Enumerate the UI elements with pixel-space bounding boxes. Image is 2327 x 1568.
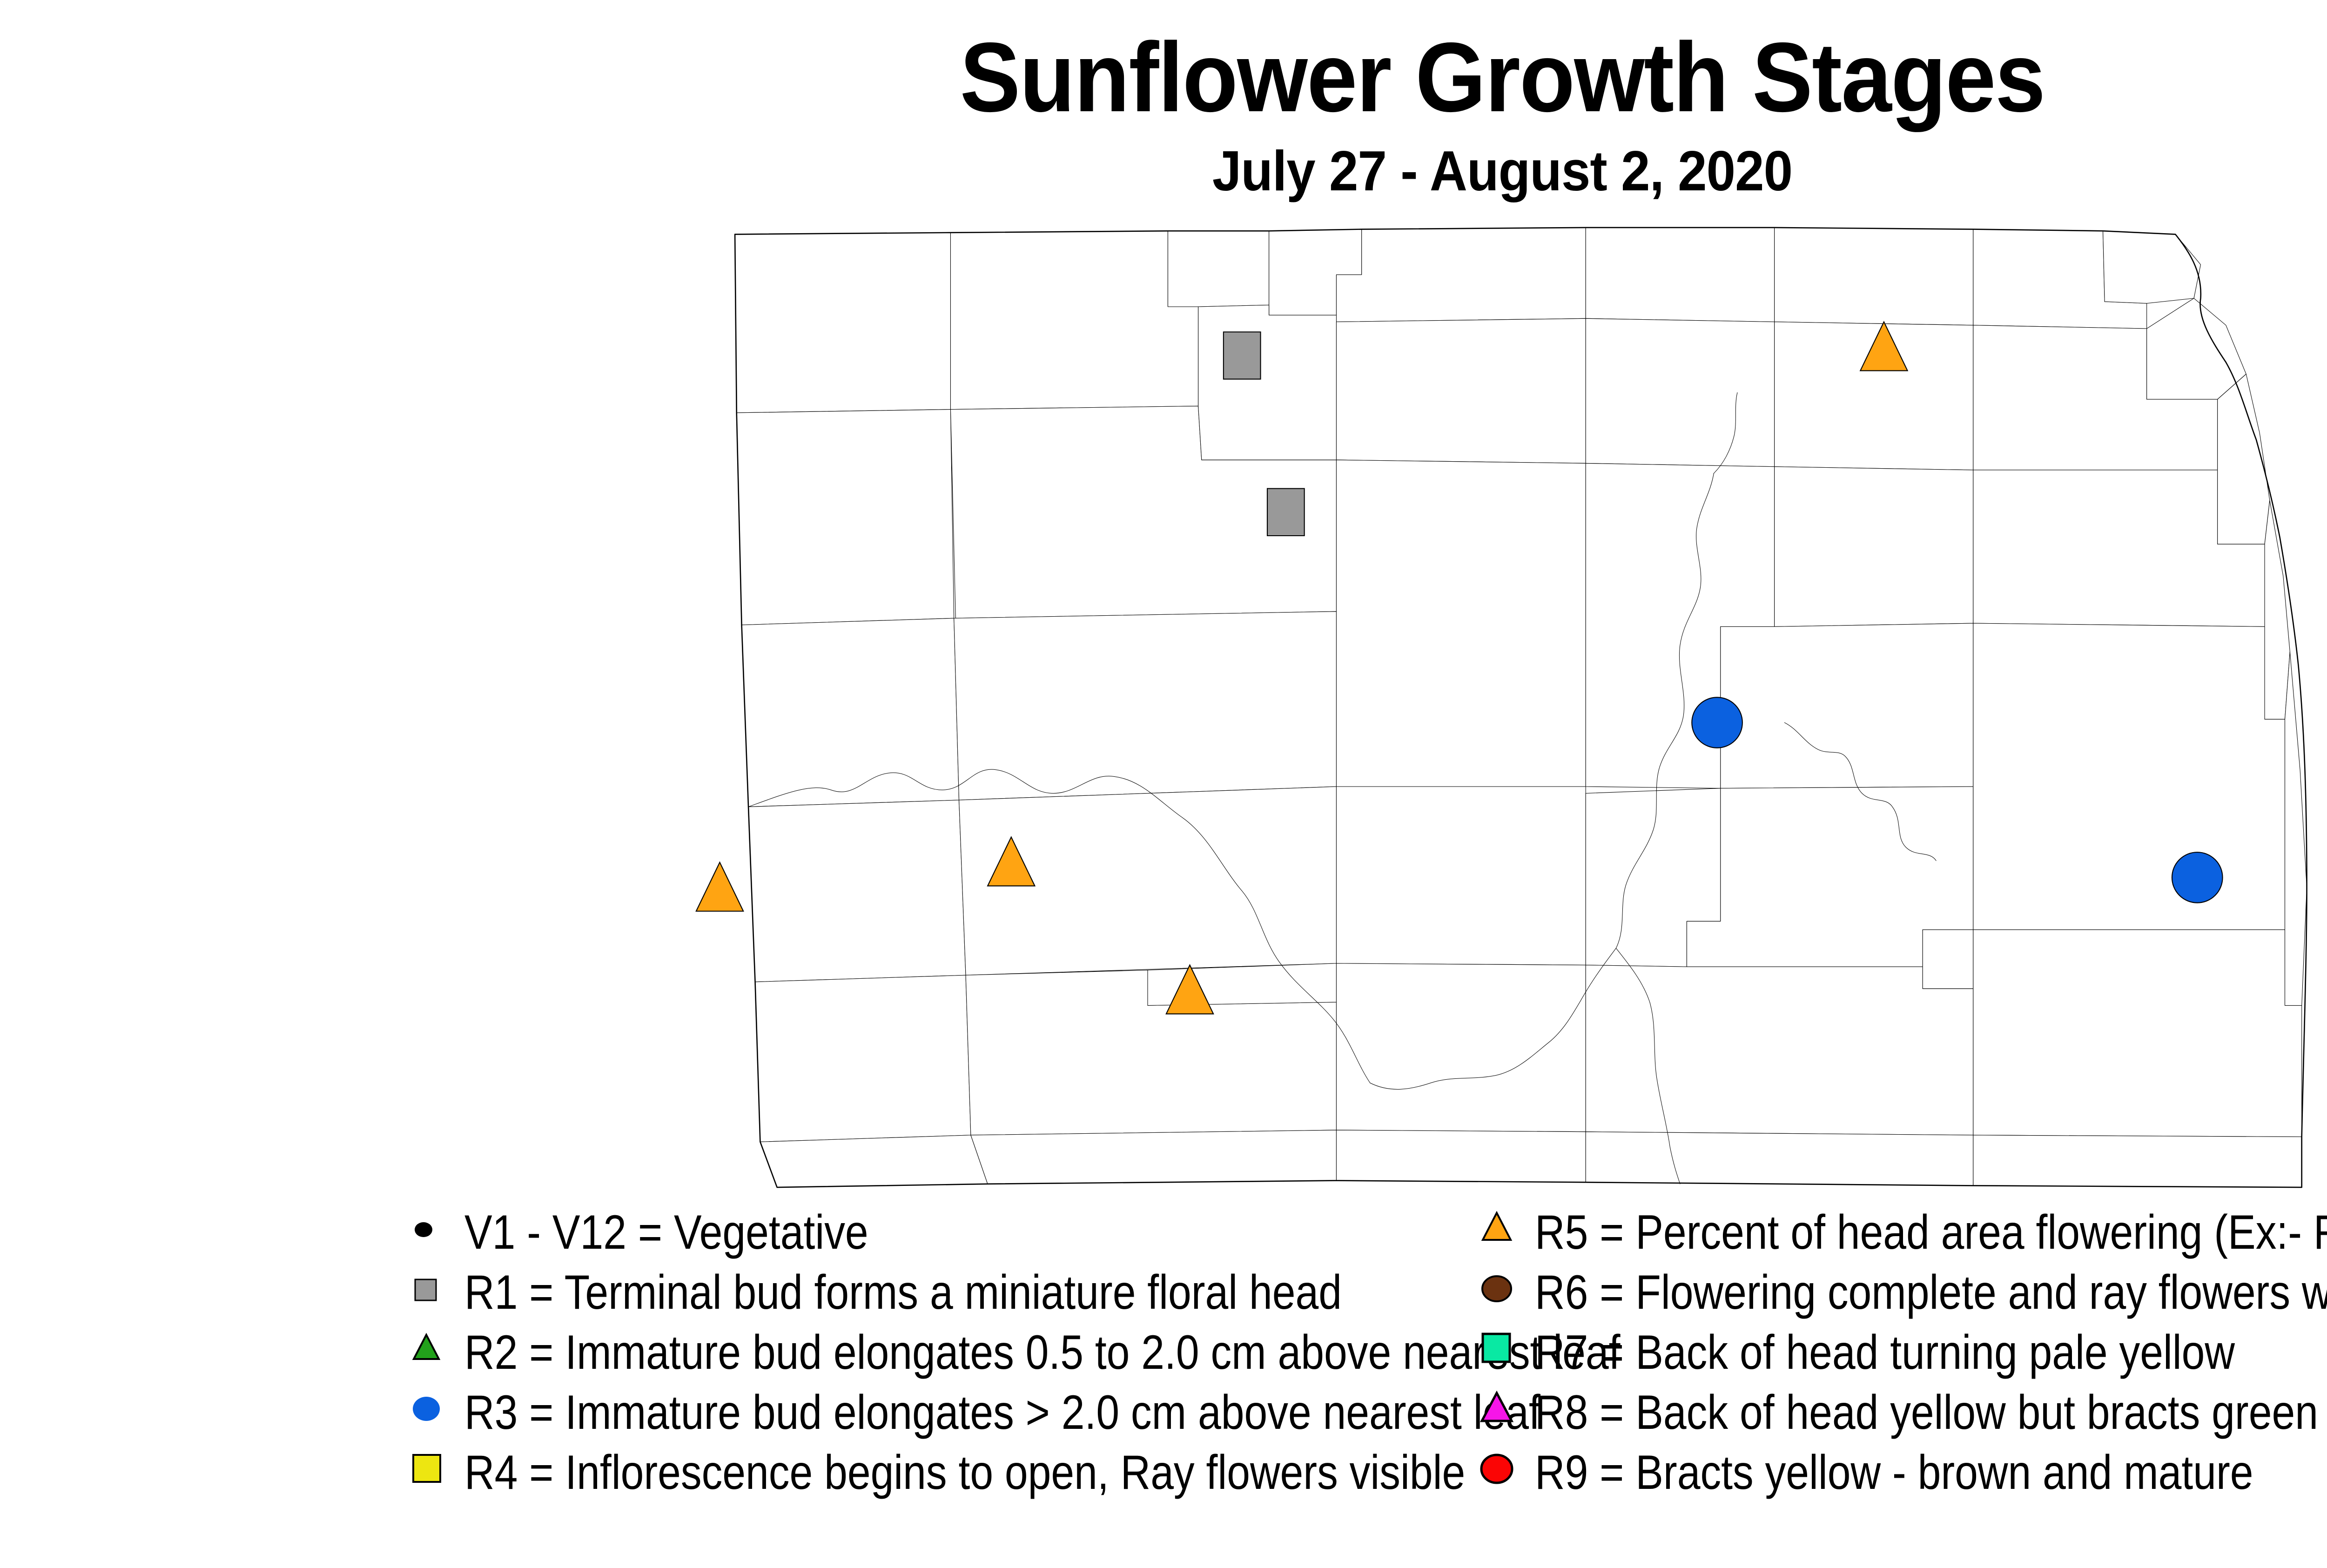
legend-item-r9: R9 = Bracts yellow - brown and mature <box>1480 1450 2327 1510</box>
legend-column-left: V1 - V12 = Vegetative R1 = Terminal bud … <box>410 1210 1480 1510</box>
county-borders-group <box>735 228 2307 1187</box>
marker-r3-circle <box>2172 852 2223 903</box>
legend-item-r1: R1 = Terminal bud forms a miniature flor… <box>410 1270 1480 1330</box>
brown-circle-icon <box>1480 1270 1531 1319</box>
blue-circle-icon <box>410 1390 461 1439</box>
legend-column-right: R5 = Percent of head area flowering (Ex:… <box>1480 1210 2327 1510</box>
orange-triangle-icon <box>1480 1210 1531 1258</box>
legend-label: R4 = Inflorescence begins to open, Ray f… <box>464 1448 1465 1497</box>
legend-item-r6: R6 = Flowering complete and ray flowers … <box>1480 1270 2327 1330</box>
legend-label: R6 = Flowering complete and ray flowers … <box>1535 1268 2327 1317</box>
legend-label: V1 - V12 = Vegetative <box>464 1208 868 1257</box>
legend: V1 - V12 = Vegetative R1 = Terminal bud … <box>0 1210 2327 1545</box>
legend-label: R8 = Back of head yellow but bracts gree… <box>1535 1388 2318 1437</box>
magenta-triangle-icon <box>1480 1390 1531 1439</box>
legend-item-r2: R2 = Immature bud elongates 0.5 to 2.0 c… <box>410 1330 1480 1390</box>
legend-label: R1 = Terminal bud forms a miniature flor… <box>464 1268 1342 1317</box>
legend-label: R7 = Back of head turning pale yellow <box>1535 1328 2235 1377</box>
legend-item-r4: R4 = Inflorescence begins to open, Ray f… <box>410 1450 1480 1510</box>
red-circle-icon <box>1480 1450 1531 1499</box>
title-block: Sunflower Growth Stages July 27 - August… <box>0 28 2327 199</box>
legend-item-r7: R7 = Back of head turning pale yellow <box>1480 1330 2327 1390</box>
marker-r1-square <box>1224 332 1261 379</box>
legend-label: R9 = Bracts yellow - brown and mature <box>1535 1448 2253 1497</box>
legend-item-r3: R3 = Immature bud elongates > 2.0 cm abo… <box>410 1390 1480 1450</box>
page-title: Sunflower Growth Stages <box>120 28 2327 127</box>
legend-label: R5 = Percent of head area flowering (Ex:… <box>1535 1208 2327 1257</box>
legend-label: R2 = Immature bud elongates 0.5 to 2.0 c… <box>464 1328 1620 1377</box>
black-circle-icon <box>410 1210 461 1258</box>
sunflower-growth-stages-figure: Sunflower Growth Stages July 27 - August… <box>0 0 2327 1568</box>
marker-r5-triangle <box>696 862 743 911</box>
green-triangle-icon <box>410 1330 461 1379</box>
north-dakota-map <box>642 214 2327 1201</box>
yellow-square-icon <box>410 1450 461 1499</box>
legend-label: R3 = Immature bud elongates > 2.0 cm abo… <box>464 1388 1540 1437</box>
legend-item-r8: R8 = Back of head yellow but bracts gree… <box>1480 1390 2327 1450</box>
page-subtitle: July 27 - August 2, 2020 <box>120 142 2327 199</box>
marker-r3-circle <box>1692 697 1742 748</box>
marker-r1-square <box>1267 489 1305 536</box>
north-dakota-county-map-svg <box>642 214 2327 1201</box>
legend-item-r5: R5 = Percent of head area flowering (Ex:… <box>1480 1210 2327 1270</box>
legend-item-v1-v12: V1 - V12 = Vegetative <box>410 1210 1480 1270</box>
green-square-icon <box>1480 1330 1531 1379</box>
gray-square-icon <box>410 1270 461 1319</box>
